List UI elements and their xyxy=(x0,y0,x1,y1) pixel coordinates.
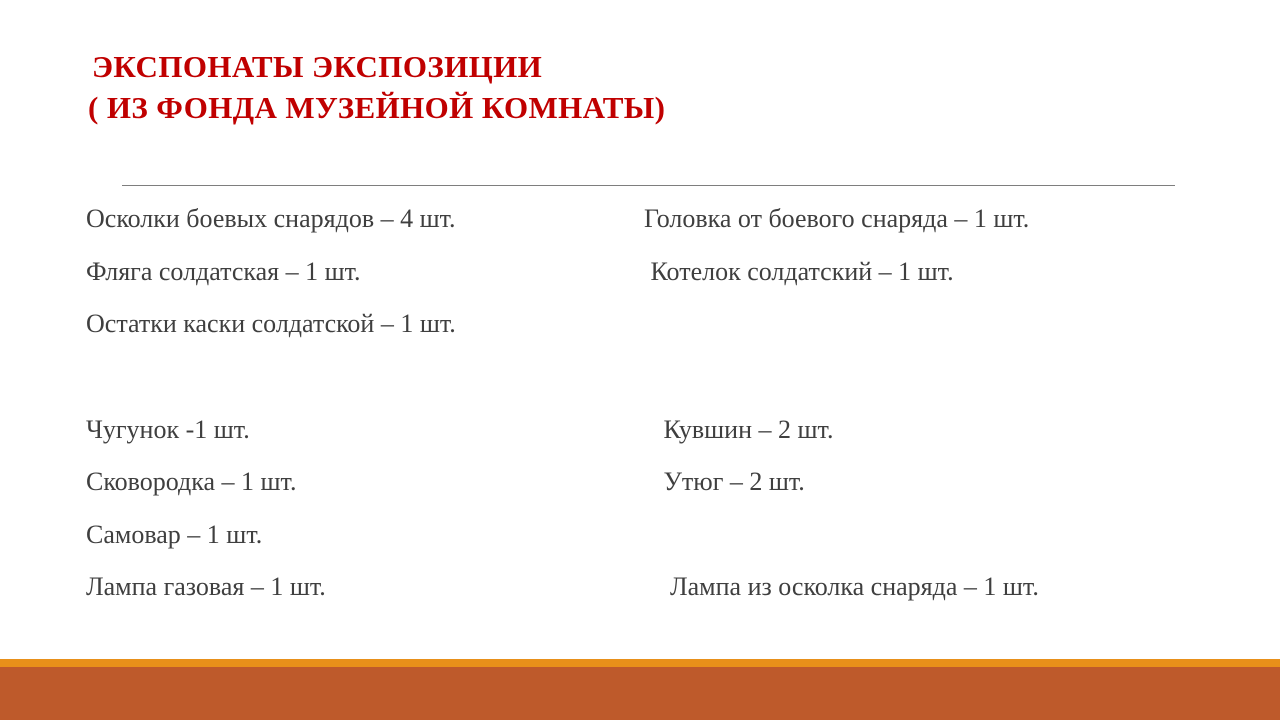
exhibit-item: Лампа из осколка снаряда – 1 шт. xyxy=(644,571,1039,603)
exhibit-item: Головка от боевого снаряда – 1 шт. xyxy=(644,203,1029,235)
list-row: Фляга солдатская – 1 шт. Котелок солдатс… xyxy=(0,256,1280,309)
slide-canvas: ЭКСПОНАТЫ ЭКСПОЗИЦИИ ( ИЗ ФОНДА МУЗЕЙНОЙ… xyxy=(0,0,1280,720)
exhibit-item: Чугунок -1 шт. xyxy=(86,414,250,446)
group-spacer xyxy=(0,361,1280,414)
exhibit-item: Кувшин – 2 шт. xyxy=(644,414,833,446)
exhibit-list: Осколки боевых снарядов – 4 шт. Головка … xyxy=(0,203,1280,624)
list-row: Лампа газовая – 1 шт. Лампа из осколка с… xyxy=(0,571,1280,624)
slide-title: ЭКСПОНАТЫ ЭКСПОЗИЦИИ ( ИЗ ФОНДА МУЗЕЙНОЙ… xyxy=(86,46,1186,128)
title-line-secondary: ( ИЗ ФОНДА МУЗЕЙНОЙ КОМНАТЫ) xyxy=(86,87,1186,128)
footer-accent-bar-rust xyxy=(0,667,1280,720)
list-row: Остатки каски солдатской – 1 шт. xyxy=(0,308,1280,361)
exhibit-item: Утюг – 2 шт. xyxy=(644,466,805,498)
exhibit-item: Остатки каски солдатской – 1 шт. xyxy=(86,308,456,340)
exhibit-item: Сковородка – 1 шт. xyxy=(86,466,296,498)
list-row: Осколки боевых снарядов – 4 шт. Головка … xyxy=(0,203,1280,256)
exhibit-item: Самовар – 1 шт. xyxy=(86,519,262,551)
exhibit-item: Котелок солдатский – 1 шт. xyxy=(644,256,954,288)
list-row: Чугунок -1 шт. Кувшин – 2 шт. xyxy=(0,414,1280,467)
list-row: Самовар – 1 шт. xyxy=(0,519,1280,572)
exhibit-item: Лампа газовая – 1 шт. xyxy=(86,571,326,603)
exhibit-group-household: Чугунок -1 шт. Кувшин – 2 шт. Сковородка… xyxy=(0,414,1280,624)
title-line-primary: ЭКСПОНАТЫ ЭКСПОЗИЦИИ xyxy=(86,46,1186,87)
exhibit-item: Фляга солдатская – 1 шт. xyxy=(86,256,361,288)
footer-accent-bar-orange xyxy=(0,659,1280,667)
list-row: Сковородка – 1 шт. Утюг – 2 шт. xyxy=(0,466,1280,519)
exhibit-item: Осколки боевых снарядов – 4 шт. xyxy=(86,203,456,235)
exhibit-group-military: Осколки боевых снарядов – 4 шт. Головка … xyxy=(0,203,1280,361)
title-divider-rule xyxy=(122,185,1175,186)
